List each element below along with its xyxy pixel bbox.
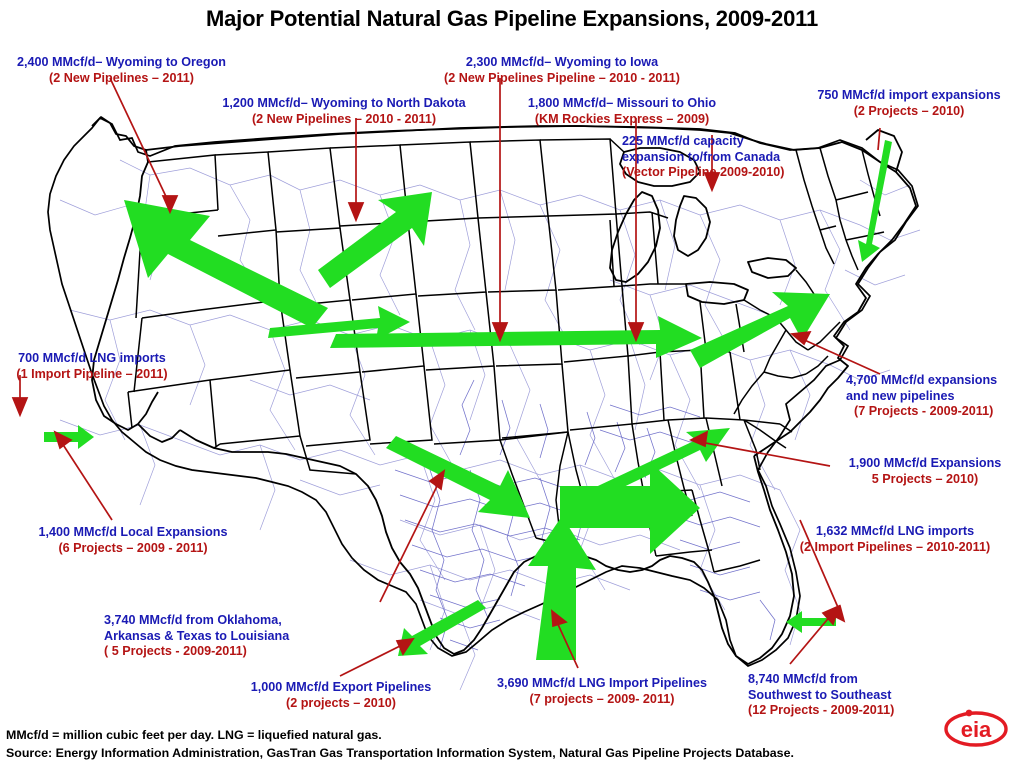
callout-southeast-expansions: 1,900 MMcf/d Expansions 5 Projects – 201… bbox=[826, 456, 1024, 487]
callout-line2: and new pipelines bbox=[846, 389, 1024, 405]
callout-line2: Arkansas & Texas to Louisiana bbox=[104, 629, 374, 645]
callout-line1: 8,740 MMcf/d from bbox=[748, 672, 978, 688]
callout-line2: expansion to/from Canada bbox=[622, 150, 852, 166]
callout-import-expansions-northeast: 750 MMcf/d import expansions (2 Projects… bbox=[800, 88, 1018, 119]
state-borders bbox=[48, 118, 918, 666]
callout-wyoming-to-iowa: 2,300 MMcf/d– Wyoming to Iowa (2 New Pip… bbox=[412, 55, 712, 86]
pipeline-expansion-map-page: Major Potential Natural Gas Pipeline Exp… bbox=[0, 0, 1024, 768]
footer-source: Source: Energy Information Administratio… bbox=[6, 744, 794, 762]
callout-line1: 1,000 MMcf/d Export Pipelines bbox=[222, 680, 460, 696]
callout-northeast-expansions: 4,700 MMcf/d expansions and new pipeline… bbox=[846, 373, 1024, 420]
callout-line1: 1,200 MMcf/d– Wyoming to North Dakota bbox=[200, 96, 488, 112]
eia-logo-text: eia bbox=[961, 717, 992, 742]
callout-wyoming-to-north-dakota: 1,200 MMcf/d– Wyoming to North Dakota (2… bbox=[200, 96, 488, 127]
callout-line1: 3,690 MMcf/d LNG Import Pipelines bbox=[472, 676, 732, 692]
footer-notes: MMcf/d = million cubic feet per day. LNG… bbox=[6, 726, 794, 762]
callout-line1: 225 MMcf/d capacity bbox=[622, 134, 852, 150]
callout-ok-ar-tx-to-louisiana: 3,740 MMcf/d from Oklahoma, Arkansas & T… bbox=[104, 613, 374, 660]
callout-lng-import-pipelines-gulf: 3,690 MMcf/d LNG Import Pipelines (7 pro… bbox=[472, 676, 732, 707]
callout-line1: 700 MMcf/d LNG imports bbox=[0, 351, 184, 367]
callout-line3: (7 Projects - 2009-2011) bbox=[846, 404, 1024, 420]
eia-logo: eia bbox=[943, 708, 1009, 748]
callout-line1: 1,900 MMcf/d Expansions bbox=[826, 456, 1024, 472]
callout-line2: (2 Import Pipelines – 2010-2011) bbox=[770, 540, 1020, 556]
callout-line2: (1 Import Pipeline – 2011) bbox=[0, 367, 184, 383]
arrow-california-local bbox=[44, 425, 94, 449]
callout-line3: ( 5 Projects - 2009-2011) bbox=[104, 644, 374, 660]
callout-canada-capacity-expansion: 225 MMcf/d capacity expansion to/from Ca… bbox=[622, 134, 852, 181]
callout-line3: (Vector Pipeline 2009-2010) bbox=[622, 165, 852, 181]
callout-export-pipelines: 1,000 MMcf/d Export Pipelines (2 project… bbox=[222, 680, 460, 711]
callout-line2: (2 New Pipelines Pipeline – 2010 - 2011) bbox=[412, 71, 712, 87]
footer-definition: MMcf/d = million cubic feet per day. LNG… bbox=[6, 726, 794, 744]
callout-lng-imports-southeast: 1,632 MMcf/d LNG imports (2 Import Pipel… bbox=[770, 524, 1020, 555]
callout-line2: (2 New Pipelines – 2011) bbox=[0, 71, 243, 87]
callout-line1: 2,300 MMcf/d– Wyoming to Iowa bbox=[412, 55, 712, 71]
callout-line2: (2 projects – 2010) bbox=[222, 696, 460, 712]
callout-line1: 4,700 MMcf/d expansions bbox=[846, 373, 1024, 389]
callout-line1: 750 MMcf/d import expansions bbox=[800, 88, 1018, 104]
callout-line1: 1,400 MMcf/d Local Expansions bbox=[8, 525, 258, 541]
callout-lng-imports-west: 700 MMcf/d LNG imports (1 Import Pipelin… bbox=[0, 351, 184, 382]
callout-line2: (KM Rockies Express – 2009) bbox=[506, 112, 738, 128]
callout-line2: (6 Projects – 2009 - 2011) bbox=[8, 541, 258, 557]
callout-line2: (2 New Pipelines – 2010 - 2011) bbox=[200, 112, 488, 128]
callout-line1: 2,400 MMcf/d– Wyoming to Oregon bbox=[0, 55, 243, 71]
callout-line2: Southwest to Southeast bbox=[748, 688, 978, 704]
callout-missouri-to-ohio: 1,800 MMcf/d– Missouri to Ohio (KM Rocki… bbox=[506, 96, 738, 127]
callout-wyoming-to-oregon: 2,400 MMcf/d– Wyoming to Oregon (2 New P… bbox=[0, 55, 243, 86]
callout-line2: (2 Projects – 2010) bbox=[800, 104, 1018, 120]
callout-line1: 3,740 MMcf/d from Oklahoma, bbox=[104, 613, 374, 629]
callout-line2: 5 Projects – 2010) bbox=[826, 472, 1024, 488]
callout-line2: (7 projects – 2009- 2011) bbox=[472, 692, 732, 708]
callout-local-expansions-california: 1,400 MMcf/d Local Expansions (6 Project… bbox=[8, 525, 258, 556]
callout-line1: 1,800 MMcf/d– Missouri to Ohio bbox=[506, 96, 738, 112]
callout-line1: 1,632 MMcf/d LNG imports bbox=[770, 524, 1020, 540]
